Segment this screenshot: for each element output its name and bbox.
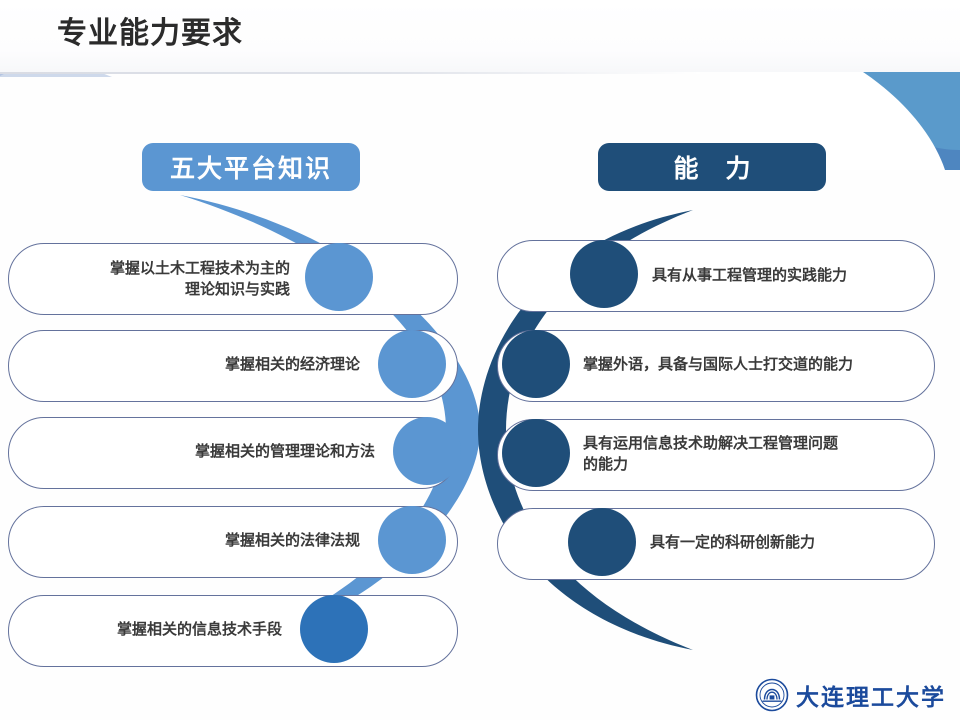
slide-canvas: 专业能力要求 五大平台知识 能 力 掌握以土木工程技术为主的 理论知识与实践 掌… <box>0 0 960 720</box>
header-divider <box>0 72 700 74</box>
node-circle <box>502 419 570 487</box>
node-circle <box>378 506 446 574</box>
node-circle <box>393 417 461 485</box>
list-item-label: 具有一定的科研创新能力 <box>650 532 935 553</box>
section-header-ability-label: 能 力 <box>664 149 761 185</box>
university-logo-text: 大连理工大学 <box>796 678 946 712</box>
node-circle <box>570 240 638 308</box>
node-circle <box>502 330 570 398</box>
list-item-label: 具有运用信息技术助解决工程管理问题 的能力 <box>583 433 933 475</box>
list-item-label: 掌握相关的法律法规 <box>30 530 360 551</box>
section-header-knowledge-label: 五大平台知识 <box>170 149 332 185</box>
node-circle <box>568 508 636 576</box>
node-circle <box>305 243 373 311</box>
university-seal-icon <box>755 678 789 712</box>
node-circle <box>378 330 446 398</box>
list-item-label: 掌握相关的管理理论和方法 <box>30 441 375 462</box>
page-title: 专业能力要求 <box>57 14 243 54</box>
list-item-label: 掌握外语，具备与国际人士打交道的能力 <box>583 354 933 375</box>
university-logo: 大连理工大学 <box>755 676 950 714</box>
slide-header: 专业能力要求 <box>0 0 960 74</box>
list-item-label: 具有从事工程管理的实践能力 <box>652 265 932 286</box>
list-item-label: 掌握相关的信息技术手段 <box>30 619 282 640</box>
node-circle <box>300 595 368 663</box>
list-item-label: 掌握相关的经济理论 <box>30 354 360 375</box>
section-header-ability[interactable]: 能 力 <box>598 143 826 191</box>
section-header-knowledge[interactable]: 五大平台知识 <box>142 143 360 191</box>
list-item-label: 掌握以土木工程技术为主的 理论知识与实践 <box>30 258 290 300</box>
